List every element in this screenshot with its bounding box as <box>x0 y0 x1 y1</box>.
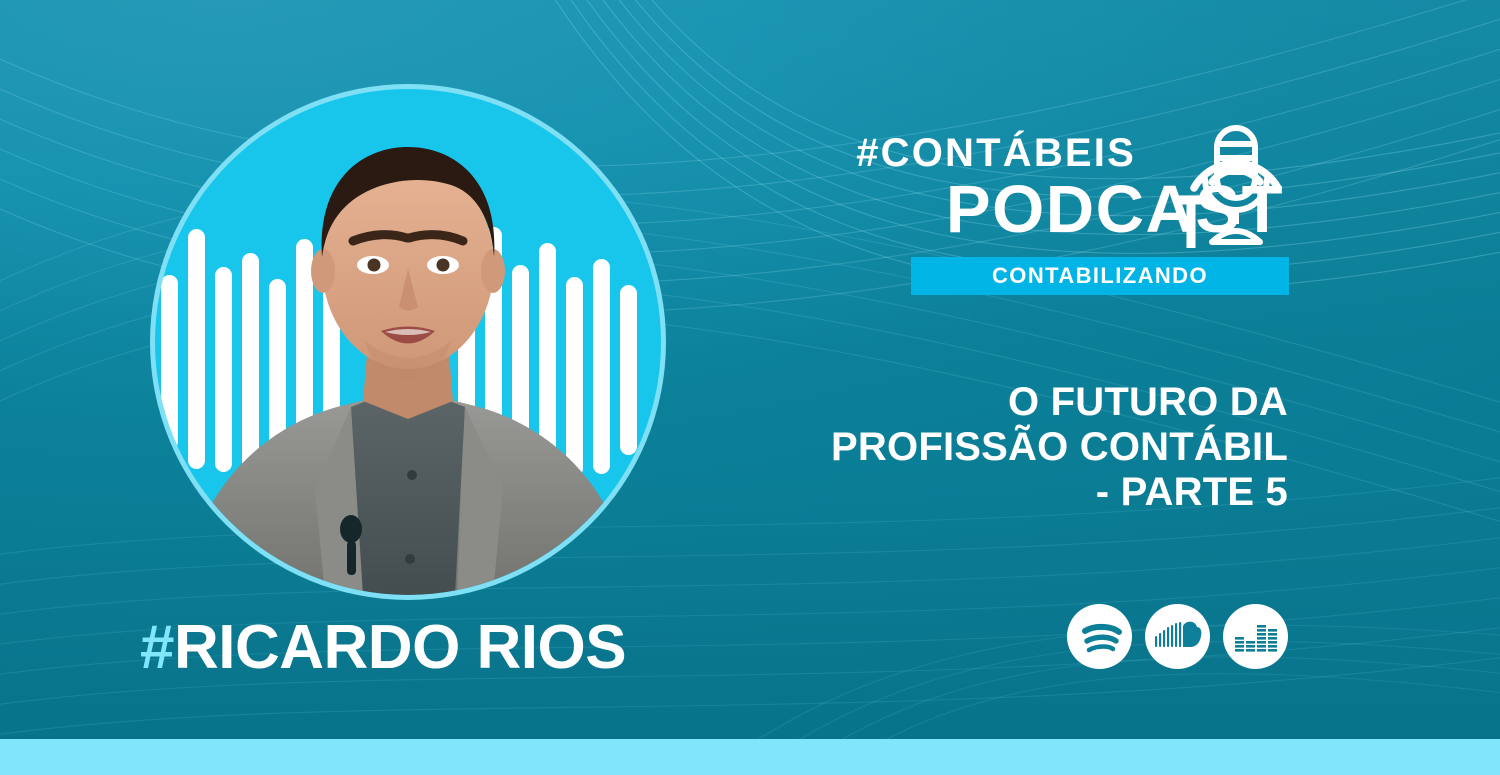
episode-title-line-1: O FUTURO DA <box>768 380 1288 425</box>
episode-title-line-3: - PARTE 5 <box>768 470 1288 515</box>
podcast-cover-banner: #RICARDO RIOS #CONTÁBEIS PODCAST <box>0 0 1500 775</box>
episode-title-line-2: PROFISSÃO CONTÁBIL <box>768 425 1288 470</box>
spotify-link[interactable] <box>1067 604 1132 669</box>
bottom-accent-bar <box>0 739 1500 775</box>
program-badge: CONTABILIZANDO <box>911 257 1289 295</box>
program-badge-label: CONTABILIZANDO <box>992 263 1208 289</box>
guest-portrait-photo <box>155 89 661 595</box>
guest-name-text: RICARDO RIOS <box>174 613 626 682</box>
guest-portrait-circle <box>155 89 661 595</box>
guest-name-hash: # <box>140 613 174 682</box>
spotify-icon <box>1077 614 1123 660</box>
brand-contabeis-text: #CONTÁBEIS <box>856 133 1136 173</box>
guest-name: #RICARDO RIOS <box>140 617 626 679</box>
right-column: #CONTÁBEIS PODCAST <box>768 118 1288 268</box>
soundcloud-link[interactable] <box>1145 604 1210 669</box>
deezer-link[interactable] <box>1223 604 1288 669</box>
brand-lockup: #CONTÁBEIS PODCAST <box>768 118 1288 268</box>
podcast-microphone-icon <box>1172 100 1300 248</box>
deezer-icon <box>1234 621 1278 653</box>
social-links <box>1067 604 1288 669</box>
soundcloud-icon <box>1154 620 1202 654</box>
episode-title: O FUTURO DA PROFISSÃO CONTÁBIL - PARTE 5 <box>768 380 1288 516</box>
